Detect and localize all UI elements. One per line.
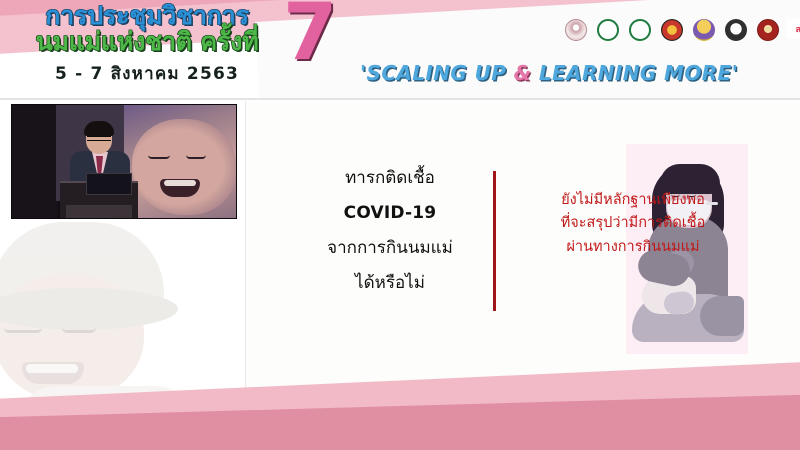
royal-college-icon xyxy=(693,19,715,41)
pediatric-society-icon xyxy=(757,19,779,41)
question-line-1: ทารกติดเชื้อ xyxy=(294,161,486,196)
watermark-teeth xyxy=(26,364,78,373)
tagline-ampersand: & xyxy=(514,61,532,85)
watermark-eye-left xyxy=(4,328,42,333)
slide-screenshot-root: การประชุมวิชาการ นมแม่แห่งชาติ ครั้งที่ … xyxy=(0,0,800,450)
thaihealth-logo: สสส xyxy=(786,19,800,49)
tagline-part1: 'SCALING UP xyxy=(360,61,514,85)
pediatric-society-logo xyxy=(754,19,781,49)
conference-date: 5 - 7 สิงหาคม 2563 xyxy=(12,60,282,87)
ministry-public-health-icon xyxy=(597,19,619,41)
edition-number: 7 xyxy=(283,0,337,72)
answer-line-2: ที่จะสรุปว่ามีการติดเชื้อ xyxy=(508,212,758,235)
question-line-3: จากการกินนมแม่ xyxy=(294,231,486,266)
answer-line-3: ผ่านทางการกินนมแม่ xyxy=(508,236,758,259)
royal-emblem-logo xyxy=(658,19,685,49)
question-line-2: COVID-19 xyxy=(294,196,486,231)
slide-question-block: ทารกติดเชื้อ COVID-19 จากการกินนมแม่ ได้… xyxy=(294,161,486,300)
breastfeeding-foundation-logo xyxy=(562,19,589,49)
nursing-council-logo xyxy=(722,19,749,49)
royal-emblem-icon xyxy=(661,19,683,41)
conference-title-line1: การประชุมวิชาการ xyxy=(12,2,282,29)
video-baby-teeth xyxy=(164,180,196,186)
slide-answer-block: ยังไม่มีหลักฐานเพียงพอ ที่จะสรุปว่ามีการ… xyxy=(508,189,758,259)
video-baby-eye-left xyxy=(148,155,170,159)
video-baby-eye-right xyxy=(186,155,206,159)
conference-title-line2: นมแม่แห่งชาติ ครั้งที่ xyxy=(12,28,282,56)
breastfeeding-foundation-icon xyxy=(565,19,587,41)
conference-tagline: 'SCALING UP & LEARNING MORE' xyxy=(360,61,738,85)
question-line-4: ได้หรือไม่ xyxy=(294,266,486,301)
illustration-mother-leg xyxy=(700,296,744,336)
conference-banner: การประชุมวิชาการ นมแม่แห่งชาติ ครั้งที่ … xyxy=(0,0,800,100)
answer-line-1: ยังไม่มีหลักฐานเพียงพอ xyxy=(508,189,758,212)
ministry-public-health-logo xyxy=(594,19,621,49)
video-speaker-glasses xyxy=(87,136,111,141)
video-baby-face xyxy=(132,119,236,215)
video-baby-photo-screen xyxy=(124,105,237,219)
department-health-logo xyxy=(626,19,653,49)
royal-college-logo xyxy=(690,19,717,49)
slide-vertical-divider xyxy=(493,171,496,311)
watermark-hat-brim xyxy=(0,288,178,330)
thaihealth-icon: สสส xyxy=(787,19,800,39)
video-laptop xyxy=(86,173,132,195)
department-health-icon xyxy=(629,19,651,41)
speaker-presentation-video[interactable] xyxy=(11,104,237,219)
watermark-eye-right xyxy=(62,328,96,333)
video-stage-left-dark xyxy=(12,105,58,219)
nursing-council-icon xyxy=(725,19,747,41)
conference-title-block: การประชุมวิชาการ นมแม่แห่งชาติ ครั้งที่ … xyxy=(12,2,282,87)
tagline-part2: LEARNING MORE' xyxy=(532,61,739,85)
video-speaker-hair xyxy=(84,121,114,136)
banner-bottom-divider xyxy=(0,98,800,100)
video-podium-base xyxy=(66,205,132,219)
sponsor-logo-row: สสส xyxy=(562,19,800,49)
